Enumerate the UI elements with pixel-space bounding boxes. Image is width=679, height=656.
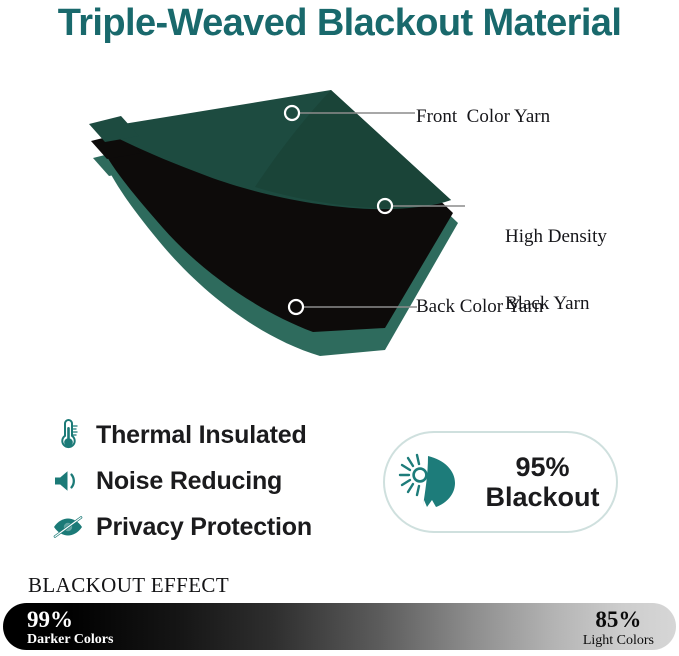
feature-item-thermal: Thermal Insulated (48, 412, 368, 458)
eye-off-icon (48, 509, 88, 545)
sun-blocked-icon (385, 453, 477, 511)
callout-label-back: Back Color Yarn (416, 296, 543, 318)
feature-list: Thermal Insulated Noise Reducing Privacy… (48, 412, 368, 550)
darker-colors-percent: 99% (27, 608, 113, 631)
blackout-effect-left: 99% Darker Colors (27, 608, 113, 647)
blackout-label: Blackout (485, 482, 599, 512)
blackout-badge-text: 95% Blackout (477, 452, 616, 512)
blackout-effect-heading: BLACKOUT EFFECT (28, 573, 229, 598)
callout-label-front: Front Color Yarn (416, 106, 550, 128)
blackout-percent: 95% (515, 452, 569, 482)
feature-label-thermal: Thermal Insulated (96, 421, 307, 450)
light-colors-percent: 85% (583, 608, 654, 631)
speaker-icon (48, 463, 88, 499)
page-title: Triple-Weaved Blackout Material (0, 2, 679, 45)
blackout-effect-gradient-bar: 99% Darker Colors 85% Light Colors (3, 603, 676, 650)
light-colors-label: Light Colors (583, 634, 654, 648)
feature-item-privacy: Privacy Protection (48, 504, 368, 550)
darker-colors-label: Darker Colors (27, 633, 113, 647)
feature-label-privacy: Privacy Protection (96, 513, 312, 542)
blackout-effect-right: 85% Light Colors (583, 608, 654, 648)
feature-item-noise: Noise Reducing (48, 458, 368, 504)
thermometer-icon (48, 417, 88, 453)
feature-label-noise: Noise Reducing (96, 467, 282, 496)
blackout-badge: 95% Blackout (383, 431, 618, 533)
fabric-illustration (85, 88, 465, 358)
callout-label-middle-line1: High Density (505, 226, 607, 248)
